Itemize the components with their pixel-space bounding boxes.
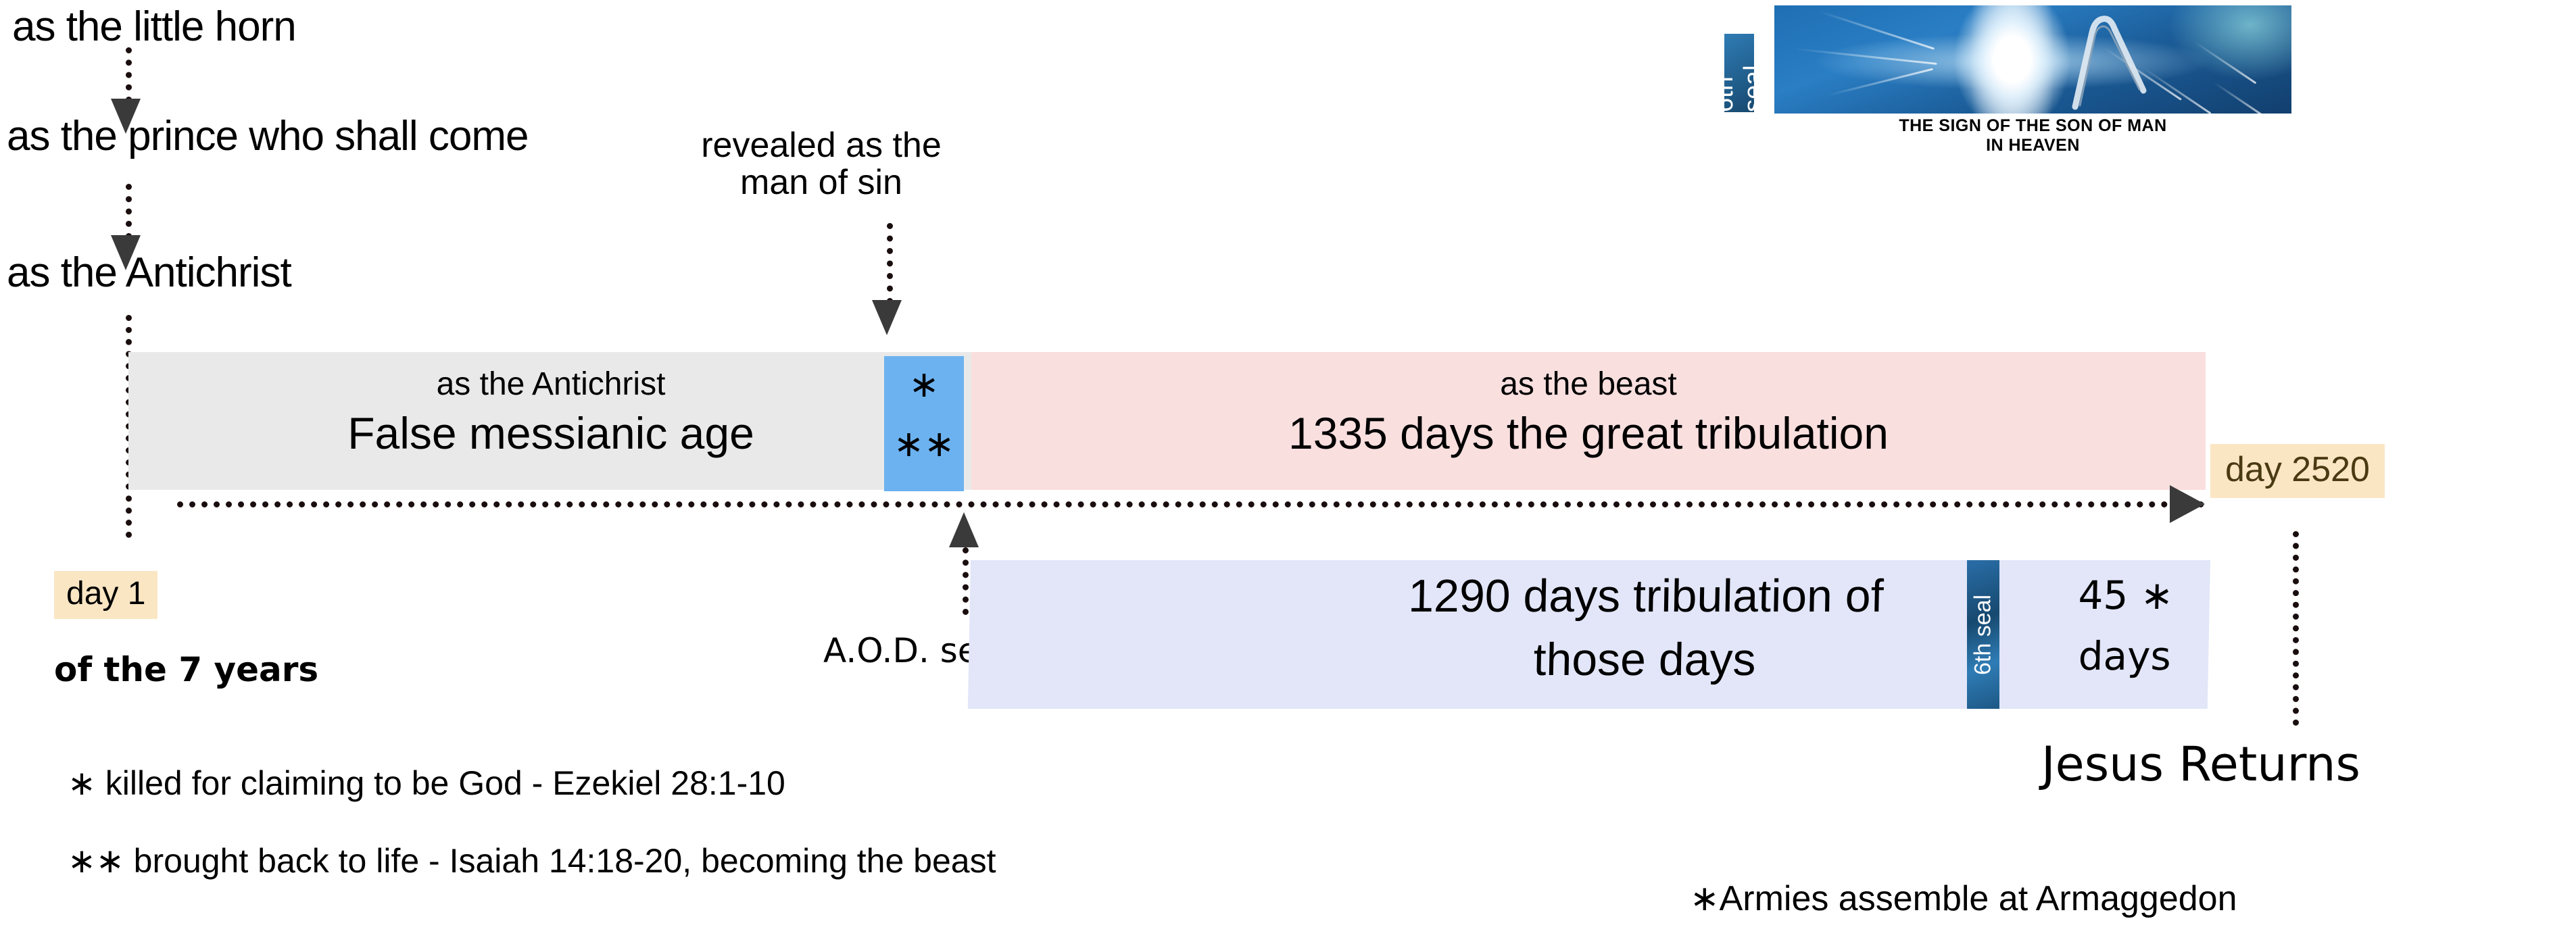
bar-marker-death-resurrection[interactable]: ∗ ∗∗ bbox=[884, 356, 964, 491]
bar-great-tribulation[interactable]: as the beast 1335 days the great tribula… bbox=[971, 352, 2206, 490]
day-2520-label: day 2520 bbox=[2225, 450, 2370, 489]
lower-bar-seal-tab: 6th seal bbox=[1967, 560, 1999, 709]
gray-bar-sublabel: as the Antichrist bbox=[128, 366, 973, 403]
lower-bar-seal-tab-label: 6th seal bbox=[1967, 560, 1999, 709]
day-2520-chip: day 2520 bbox=[2210, 444, 2385, 498]
day-1-chip: day 1 bbox=[54, 571, 157, 619]
sign-caption-line1: THE SIGN OF THE SON OF MAN bbox=[1774, 116, 2291, 136]
marker-star-single: ∗ bbox=[884, 363, 964, 405]
day-1-label: day 1 bbox=[66, 576, 145, 612]
gray-bar-mainlabel: False messianic age bbox=[128, 407, 973, 459]
chain-connector-1 bbox=[126, 47, 132, 103]
seal-image-tab: 6th seal bbox=[1724, 34, 1754, 112]
aod-arrow-icon bbox=[949, 512, 979, 547]
revealed-arrow-icon bbox=[872, 300, 902, 335]
sign-glyph-icon bbox=[1774, 5, 2291, 114]
jesus-returns-marker bbox=[2293, 531, 2299, 726]
chain-step-antichrist: as the Antichrist bbox=[7, 249, 291, 297]
chain-connector-2 bbox=[126, 184, 132, 239]
sign-image-caption: THE SIGN OF THE SON OF MAN IN HEAVEN bbox=[1774, 116, 2291, 155]
bar-1290-days-tribulation[interactable]: 1290 days tribulation of those days 45 ∗… bbox=[968, 560, 2210, 709]
pink-bar-mainlabel: 1335 days the great tribulation bbox=[971, 407, 2206, 459]
jesus-returns-label: Jesus Returns bbox=[2041, 737, 2360, 792]
marker-star-double: ∗∗ bbox=[884, 422, 964, 465]
lower-bar-tail-line1: 45 ∗ bbox=[2037, 572, 2214, 618]
timeline-axis bbox=[177, 501, 2205, 507]
chain-step-prince: as the prince who shall come bbox=[7, 112, 529, 160]
revealed-connector bbox=[887, 223, 893, 304]
footnote-one: ∗ killed for claiming to be God - Ezekie… bbox=[68, 764, 785, 803]
chain-step-little-horn: as the little horn bbox=[12, 3, 296, 51]
footnote-two: ∗∗ brought back to life - Isaiah 14:18-2… bbox=[68, 841, 996, 880]
bar-false-messianic-age[interactable]: as the Antichrist False messianic age bbox=[128, 352, 973, 490]
sign-caption-line2: IN HEAVEN bbox=[1774, 136, 2291, 155]
timeline-end-arrow-icon bbox=[2170, 485, 2205, 523]
revealed-as-man-of-sin-label: revealed as the man of sin bbox=[676, 127, 967, 201]
of-the-7-years-label: of the 7 years bbox=[54, 650, 318, 689]
aod-connector bbox=[963, 547, 969, 615]
sign-of-son-of-man-image bbox=[1774, 5, 2291, 114]
lower-bar-tail-line2: days bbox=[2037, 633, 2213, 679]
footnote-three: ∗Armies assemble at Armaggedon bbox=[1690, 878, 2237, 919]
seal-image-tab-label: 6th seal bbox=[1724, 34, 1754, 112]
pink-bar-sublabel: as the beast bbox=[971, 366, 2206, 403]
revealed-label-line2: man of sin bbox=[676, 164, 967, 201]
revealed-label-line1: revealed as the bbox=[676, 127, 967, 164]
